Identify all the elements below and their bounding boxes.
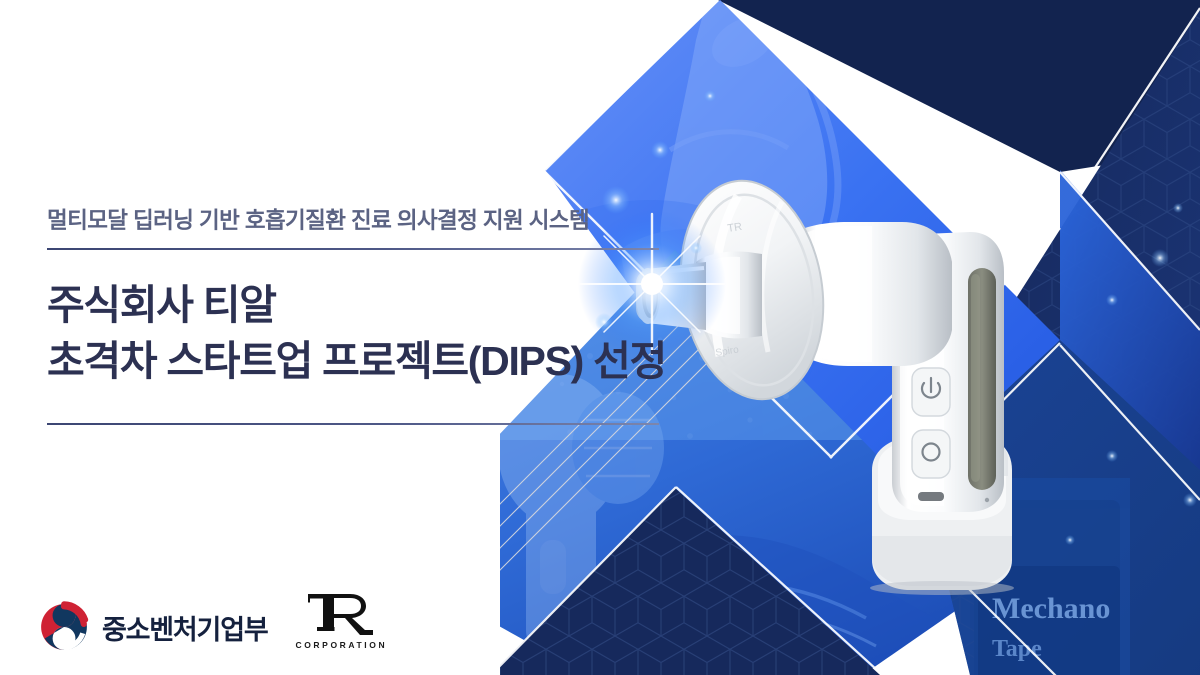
disc-emboss-top: TR [727,221,743,235]
divider-top [47,248,659,250]
product-box-sub: Tape [992,636,1042,662]
government-logo: 중소벤처기업부 [38,601,267,653]
taegeuk-symbol [38,601,90,653]
title-block: 멀티모달 딥러닝 기반 호흡기질환 진료 의사결정 지원 시스템 주식회사 티알… [47,206,667,389]
slide-title-line-2: 초격차 스타트업 프로젝트(DIPS) 선정 [47,334,667,389]
tr-corporation-logo: CORPORATION [293,591,387,653]
tr-monogram [304,591,376,635]
tr-corporation-sub: CORPORATION [295,640,387,650]
product-box-brand: Mechano [992,592,1110,625]
presentation-slide: Mechano Tape [0,0,1200,675]
slide-title: 주식회사 티알 초격차 스타트업 프로젝트(DIPS) 선정 [47,278,667,389]
government-name: 중소벤처기업부 [102,608,267,647]
slide-title-line-1: 주식회사 티알 [47,278,667,333]
slide-subtitle: 멀티모달 딥러닝 기반 호흡기질환 진료 의사결정 지원 시스템 [47,206,667,235]
divider-bottom [47,423,659,425]
footer-logos: 중소벤처기업부 CORPORATION [38,591,387,653]
